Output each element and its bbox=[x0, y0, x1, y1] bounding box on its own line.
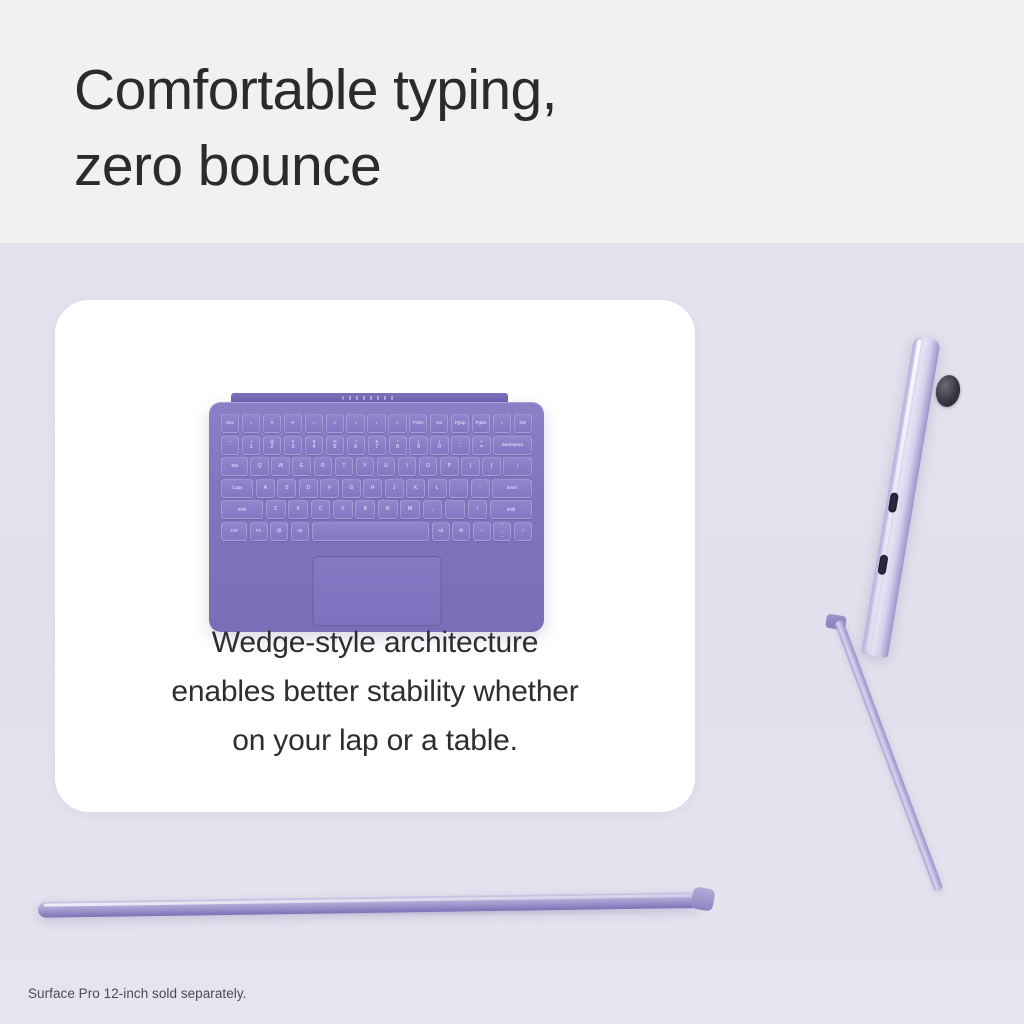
key-f8: □ bbox=[388, 414, 406, 433]
key-row-function: Esc ♪ ☀ ☀ □ □ ♪ ♪ □ PrtSc Ins PgUp bbox=[221, 414, 532, 433]
key-esc: Esc bbox=[221, 414, 239, 433]
key-equals: + = bbox=[472, 436, 490, 455]
key-fn: Fn bbox=[250, 522, 268, 541]
key-r: R bbox=[314, 457, 332, 476]
key-2: @ 2 bbox=[263, 436, 281, 455]
key-5: % 5 bbox=[326, 436, 344, 455]
key-arrow-right: › bbox=[514, 522, 532, 541]
keyboard-wedge-base bbox=[38, 880, 698, 914]
key-g: G bbox=[342, 479, 361, 498]
key-w: W bbox=[271, 457, 289, 476]
key-1: ! 1 bbox=[242, 436, 260, 455]
key-6: ^ 6 bbox=[347, 436, 365, 455]
product-feature-image: Comfortable typing, zero bounce Esc ♪ ☀ … bbox=[0, 0, 1024, 1024]
key-z: Z bbox=[266, 500, 286, 519]
key-l: L bbox=[428, 479, 447, 498]
key-d: D bbox=[299, 479, 318, 498]
wedge-top-highlight bbox=[44, 894, 692, 907]
key-row-top-letters: Tab Q W E R T Y U I O P [ ] bbox=[221, 457, 532, 476]
feature-card: Esc ♪ ☀ ☀ □ □ ♪ ♪ □ PrtSc Ins PgUp bbox=[55, 300, 695, 812]
tablet-body bbox=[861, 336, 941, 658]
usb-c-port-icon bbox=[887, 492, 898, 513]
key-shift-right: Shift bbox=[490, 500, 532, 519]
key-delete: Del bbox=[514, 414, 532, 433]
wedge-hinge-block bbox=[690, 886, 715, 911]
key-backtick: ~ ` bbox=[221, 436, 239, 455]
key-arrow-up: ⌃ bbox=[501, 522, 505, 532]
key-deck: Esc ♪ ☀ ☀ □ □ ♪ ♪ □ PrtSc Ins PgUp bbox=[221, 414, 532, 545]
key-f3: ☀ bbox=[284, 414, 302, 433]
key-3: # 3 bbox=[284, 436, 302, 455]
feature-caption: Wedge-style architecture enables better … bbox=[95, 618, 655, 765]
connector-pins bbox=[342, 396, 398, 400]
key-arrow-down: ⌄ bbox=[501, 532, 505, 541]
key-ctrl: Ctrl bbox=[221, 522, 247, 541]
key-s: S bbox=[277, 479, 296, 498]
key-0: ) 0 bbox=[430, 436, 448, 455]
key-o: O bbox=[419, 457, 437, 476]
key-tab: Tab bbox=[221, 457, 248, 476]
key-pagedown: PgDn bbox=[472, 414, 490, 433]
footnote-disclaimer: Surface Pro 12-inch sold separately. bbox=[28, 986, 246, 1001]
key-f5: □ bbox=[326, 414, 344, 433]
kickstand bbox=[760, 621, 990, 921]
key-x: X bbox=[288, 500, 308, 519]
key-alt-left: Alt bbox=[291, 522, 309, 541]
keyboard-illustration: Esc ♪ ☀ ☀ □ □ ♪ ♪ □ PrtSc Ins PgUp bbox=[209, 393, 544, 633]
kickstand-leg bbox=[834, 619, 943, 892]
key-backspace: Backspace bbox=[493, 436, 532, 455]
key-minus: _ - bbox=[451, 436, 469, 455]
key-8: * 8 bbox=[389, 436, 407, 455]
key-f6: ♪ bbox=[346, 414, 364, 433]
key-home: ⌂ bbox=[493, 414, 511, 433]
header-band: Comfortable typing, zero bounce bbox=[0, 0, 1024, 243]
key-9: ( 9 bbox=[409, 436, 427, 455]
key-y: Y bbox=[356, 457, 374, 476]
key-period: . bbox=[445, 500, 465, 519]
key-h: H bbox=[363, 479, 382, 498]
key-comma: , bbox=[423, 500, 443, 519]
key-prtsc: PrtSc bbox=[409, 414, 427, 433]
key-f7: ♪ bbox=[367, 414, 385, 433]
key-4: $ 4 bbox=[305, 436, 323, 455]
key-shift-left: Shift bbox=[221, 500, 263, 519]
key-i: I bbox=[398, 457, 416, 476]
key-f1: ♪ bbox=[242, 414, 260, 433]
key-slash: / bbox=[468, 500, 488, 519]
key-quote: ' bbox=[471, 479, 490, 498]
key-p: P bbox=[440, 457, 458, 476]
key-row-numbers: ~ ` ! 1 @ 2 # bbox=[221, 436, 532, 455]
tablet-side-view bbox=[826, 338, 976, 668]
key-b: B bbox=[355, 500, 375, 519]
key-k: K bbox=[406, 479, 425, 498]
key-capslock: Caps bbox=[221, 479, 253, 498]
key-backslash: \ bbox=[503, 457, 532, 476]
key-spacebar bbox=[312, 522, 429, 541]
key-f2: ☀ bbox=[263, 414, 281, 433]
key-settings-icon: ⚙ bbox=[452, 522, 470, 541]
page-title: Comfortable typing, zero bounce bbox=[74, 52, 934, 204]
key-t: T bbox=[335, 457, 353, 476]
key-pageup: PgUp bbox=[451, 414, 469, 433]
key-e: E bbox=[292, 457, 310, 476]
key-arrow-updown: ⌃ ⌄ bbox=[493, 522, 511, 541]
rear-camera-icon bbox=[934, 373, 963, 409]
key-semicolon: ; bbox=[449, 479, 468, 498]
keyboard-body: Esc ♪ ☀ ☀ □ □ ♪ ♪ □ PrtSc Ins PgUp bbox=[209, 402, 544, 632]
key-n: N bbox=[378, 500, 398, 519]
key-f: F bbox=[320, 479, 339, 498]
key-f4: □ bbox=[305, 414, 323, 433]
key-m: M bbox=[400, 500, 420, 519]
key-q: Q bbox=[250, 457, 268, 476]
key-windows-icon: ⊞ bbox=[270, 522, 288, 541]
key-u: U bbox=[377, 457, 395, 476]
key-a: A bbox=[256, 479, 275, 498]
key-row-home-letters: Caps A S D F G H J K L ; ' Enter bbox=[221, 479, 532, 498]
product-stage: Esc ♪ ☀ ☀ □ □ ♪ ♪ □ PrtSc Ins PgUp bbox=[0, 243, 1024, 1024]
key-alt-right: Alt bbox=[432, 522, 450, 541]
key-row-modifiers: Ctrl Fn ⊞ Alt Alt ⚙ ‹ ⌃ ⌄ bbox=[221, 522, 532, 541]
key-bracket-right: ] bbox=[482, 457, 500, 476]
trackpad bbox=[312, 556, 441, 626]
key-j: J bbox=[385, 479, 404, 498]
key-7: & 7 bbox=[368, 436, 386, 455]
key-insert: Ins bbox=[430, 414, 448, 433]
key-v: V bbox=[333, 500, 353, 519]
key-c: C bbox=[311, 500, 331, 519]
key-enter: Enter bbox=[492, 479, 532, 498]
key-bracket-left: [ bbox=[461, 457, 479, 476]
usb-c-port-icon bbox=[877, 554, 888, 575]
key-row-bottom-letters: Shift Z X C V B N M , . / Shift bbox=[221, 500, 532, 519]
key-arrow-left: ‹ bbox=[473, 522, 491, 541]
